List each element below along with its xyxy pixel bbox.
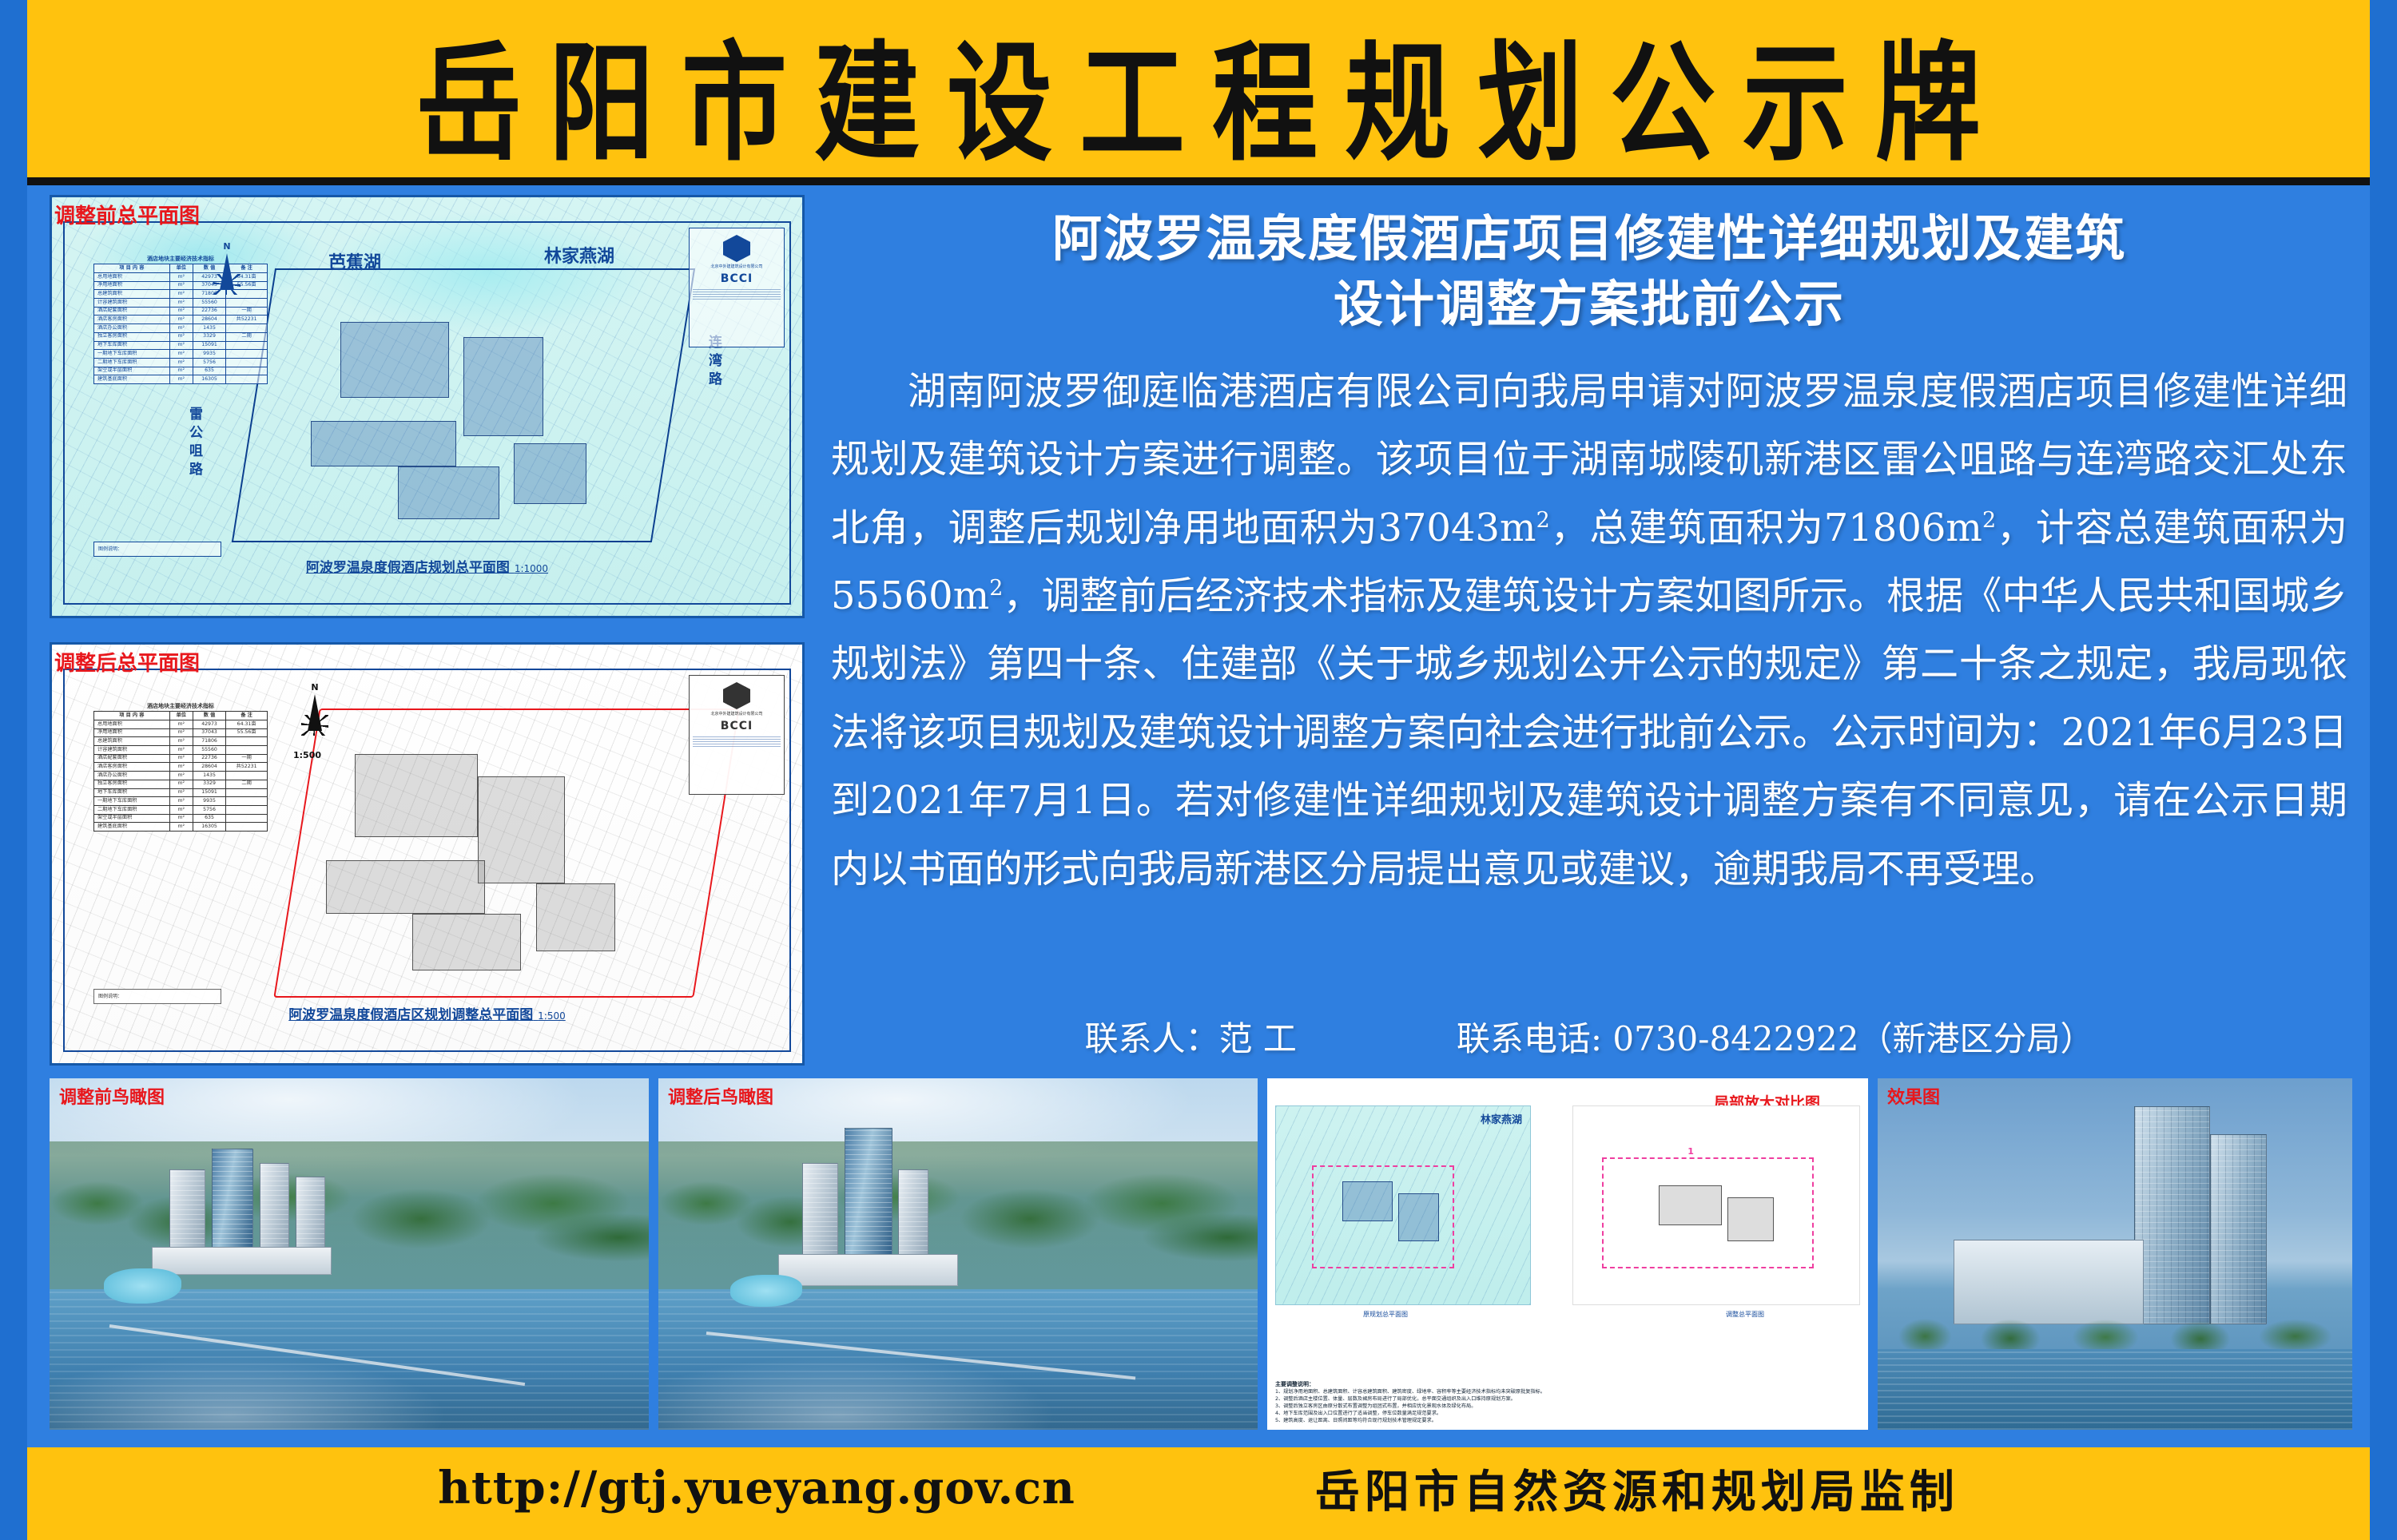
- plan-after-label: 调整后总平面图: [54, 647, 200, 677]
- table-cell: m²: [169, 720, 193, 729]
- comparison-highlight-box: [1312, 1165, 1454, 1268]
- comparison-left-caption: 原规划总平面图: [1363, 1310, 1408, 1319]
- render-tower: [2134, 1106, 2210, 1324]
- table-cell: 二期地下车库面积: [94, 805, 170, 814]
- road-label-leigongzui: 雷公咀路: [185, 407, 205, 480]
- firm-abbr: BCCI: [693, 720, 781, 732]
- table-cell: 净用地面积: [94, 281, 170, 290]
- table-cell: m²: [169, 814, 193, 823]
- table-cell: 净用地面积: [94, 728, 170, 737]
- right-blue-edge: [2370, 0, 2397, 1540]
- table-cell: 总建筑面积: [94, 737, 170, 746]
- plan-before-building: [311, 421, 455, 466]
- plan-after-firm-block: 北京中外建建筑设计有限公司 BCCI: [689, 675, 785, 795]
- th-item: 项 目 内 容: [94, 712, 170, 720]
- plan-before-label: 调整前总平面图: [54, 200, 200, 229]
- table-cell: [226, 299, 268, 308]
- table-cell: 22736: [193, 307, 225, 316]
- aerial-after-thumbnail[interactable]: 调整后鸟瞰图: [658, 1078, 1258, 1430]
- table-cell: m²: [169, 367, 193, 375]
- table-cell: m²: [169, 754, 193, 763]
- table-cell: 22736: [193, 754, 225, 763]
- table-cell: 地下车库面积: [94, 788, 170, 797]
- table-cell: [226, 746, 268, 755]
- table-cell: 16305: [193, 375, 225, 384]
- table-cell: m²: [169, 341, 193, 350]
- table-cell: 5756: [193, 358, 225, 367]
- compass-rose-icon: N: [296, 691, 333, 740]
- table-row: 酒店配套面积m²22736一期: [94, 754, 268, 763]
- table-cell: [226, 341, 268, 350]
- table-row: 地下车库面积m²15091: [94, 788, 268, 797]
- comparison-marker: 1: [1687, 1146, 1694, 1157]
- aerial-before-label: 调整前鸟瞰图: [59, 1083, 165, 1109]
- table-cell: m²: [169, 324, 193, 333]
- drawing-title-text: 阿波罗温泉度假酒店规划总平面图: [306, 560, 510, 576]
- th-value: 数 值: [193, 712, 225, 720]
- table-cell: 建筑基底面积: [94, 375, 170, 384]
- table-row: 二期地下车库面积m²5756: [94, 358, 268, 367]
- compass-north-label: N: [223, 241, 230, 252]
- table-cell: 71806: [193, 737, 225, 746]
- table-cell: [226, 788, 268, 797]
- table-cell: 55.56亩: [226, 728, 268, 737]
- plan-after-frame: 酒店地块主要经济技术指标 项 目 内 容 单位 数 值 备 注 总用地面积m²4…: [63, 669, 791, 1052]
- table-row: 净用地面积m²3704355.56亩: [94, 728, 268, 737]
- table-cell: [226, 375, 268, 384]
- bcci-logo-icon: [723, 682, 750, 709]
- plan-before-frame: 酒店地块主要经济技术指标 项 目 内 容 单位 数 值 备 注 总用地面积m²4…: [63, 221, 791, 605]
- table-cell: 总用地面积: [94, 273, 170, 282]
- table-cell: 酒店客房面积: [94, 316, 170, 324]
- table-cell: m²: [169, 763, 193, 772]
- table-cell: 酒店配套面积: [94, 307, 170, 316]
- notice-paragraph: 湖南阿波罗御庭临港酒店有限公司向我局申请对阿波罗温泉度假酒店项目修建性详细规划及…: [826, 358, 2352, 904]
- podium: [778, 1254, 958, 1286]
- notice-title-line1: 阿波罗温泉度假酒店项目修建性详细规划及建筑: [826, 206, 2352, 272]
- table-row: 二期地下车库面积m²5756: [94, 805, 268, 814]
- table-row: 酒店客房面积m²28604共52231: [94, 763, 268, 772]
- table-cell: 二期地下车库面积: [94, 358, 170, 367]
- comparison-right-caption: 调整总平面图: [1726, 1310, 1764, 1319]
- contact-phone: 联系电话: 0730-8422922（新港区分局）: [1457, 1012, 2094, 1061]
- table-cell: 一期地下车库面积: [94, 797, 170, 806]
- table-cell: m²: [169, 797, 193, 806]
- footer-organization: 岳阳市自然资源和规划局监制: [1315, 1456, 1959, 1521]
- table-cell: [226, 350, 268, 359]
- aerial-after-label: 调整后鸟瞰图: [668, 1083, 773, 1109]
- legend-title: 图例说明：: [98, 546, 122, 552]
- table-cell: 一期: [226, 307, 268, 316]
- table-cell: 55560: [193, 299, 225, 308]
- table-cell: 9935: [193, 350, 225, 359]
- render-tower: [2210, 1134, 2267, 1324]
- comparison-note-item: 5、建筑高度、退让距离、日照间距等均符合现行规划技术管理规定要求。: [1275, 1418, 1860, 1425]
- table-cell: m²: [169, 746, 193, 755]
- compass-star: [301, 715, 328, 736]
- table-cell: 635: [193, 367, 225, 375]
- th-unit: 单位: [169, 712, 193, 720]
- th-note: 备 注: [226, 712, 268, 720]
- plan-after-legend: 图例说明：: [93, 989, 221, 1004]
- table-cell: 二期: [226, 332, 268, 341]
- notice-title: 阿波罗温泉度假酒店项目修建性详细规划及建筑 设计调整方案批前公示: [826, 195, 2352, 337]
- table-cell: [226, 797, 268, 806]
- table-cell: 独立客房面积: [94, 780, 170, 788]
- table-cell: m²: [169, 788, 193, 797]
- firm-name: 北京中外建建筑设计有限公司: [693, 264, 781, 270]
- table-row: 架空或半层面积m²635: [94, 814, 268, 823]
- comparison-note-item: 3、调整后独立客房区由原分散式布置调整为组团式布置，并相应优化景观水体及绿化布局…: [1275, 1403, 1860, 1411]
- firm-detail-rows: [693, 288, 781, 300]
- table-cell: m²: [169, 299, 193, 308]
- table-cell: 28604: [193, 316, 225, 324]
- plan-after-building: [478, 776, 565, 883]
- footer-band: http://gtj.yueyang.gov.cn 岳阳市自然资源和规划局监制: [27, 1447, 2370, 1540]
- table-row: 酒店配套面积m²22736一期: [94, 307, 268, 316]
- firm-detail-rows: [693, 735, 781, 747]
- comparison-notes-title: 主要调整说明：: [1275, 1381, 1314, 1387]
- table-row: 总用地面积m²4297364.31亩: [94, 720, 268, 729]
- plan-after-building: [355, 754, 478, 838]
- table-cell: 15091: [193, 341, 225, 350]
- table-cell: 一期地下车库面积: [94, 350, 170, 359]
- plan-before-drawing[interactable]: 酒店地块主要经济技术指标 项 目 内 容 单位 数 值 备 注 总用地面积m²4…: [50, 195, 805, 618]
- lake-label-linjiayanhu: 林家燕湖: [544, 242, 614, 268]
- table-cell: [226, 805, 268, 814]
- render-thumbnail[interactable]: 效果图: [1878, 1078, 2352, 1430]
- plan-after-index-table: 酒店地块主要经济技术指标 项 目 内 容 单位 数 值 备 注 总用地面积m²4…: [93, 702, 268, 832]
- contact-row: 联系人：范 工 联系电话: 0730-8422922（新港区分局）: [826, 1012, 2352, 1061]
- contact-person: 联系人：范 工: [1085, 1012, 1297, 1061]
- table-cell: m²: [169, 728, 193, 737]
- plan-before-building: [463, 337, 543, 436]
- table-row: 独立客房面积m²3329二期: [94, 332, 268, 341]
- plan-after-building: [412, 914, 521, 970]
- tower: [169, 1169, 205, 1254]
- table-cell: 9935: [193, 797, 225, 806]
- table-cell: 42973: [193, 720, 225, 729]
- table-cell: [226, 814, 268, 823]
- table-cell: 3329: [193, 780, 225, 788]
- lake-label-bajiaohu: 芭蕉湖: [328, 248, 381, 274]
- table-cell: m²: [169, 307, 193, 316]
- table-cell: m²: [169, 805, 193, 814]
- tower: [260, 1163, 290, 1254]
- table-cell: 635: [193, 814, 225, 823]
- plan-before-firm-block: 北京中外建建筑设计有限公司 BCCI: [689, 228, 785, 347]
- table-cell: 15091: [193, 788, 225, 797]
- table-cell: 37043: [193, 728, 225, 737]
- firm-name: 北京中外建建筑设计有限公司: [693, 712, 781, 717]
- table-cell: 架空或半层面积: [94, 814, 170, 823]
- table-cell: [226, 772, 268, 780]
- compass-rose-icon: N: [209, 250, 245, 300]
- table-cell: [226, 823, 268, 832]
- notice-text-block: 阿波罗温泉度假酒店项目修建性详细规划及建筑 设计调整方案批前公示 湖南阿波罗御庭…: [826, 195, 2352, 1066]
- footer-website-url[interactable]: http://gtj.yueyang.gov.cn: [438, 1462, 1075, 1514]
- plan-after-building: [536, 883, 616, 952]
- table-cell: [226, 737, 268, 746]
- table-row: 架空或半层面积m²635: [94, 367, 268, 375]
- comparison-note-item: 1、规划净用地面积、总建筑面积、计容总建筑面积、建筑密度、绿地率、容积率等主要经…: [1275, 1389, 1860, 1396]
- plan-after-drawing-title: 阿波罗温泉度假酒店区规划调整总平面图 1:500: [65, 1003, 789, 1023]
- table-row: 一期地下车库面积m²9935: [94, 350, 268, 359]
- aerial-after-art: [658, 1078, 1258, 1430]
- table-cell: [226, 324, 268, 333]
- table-row: 总建筑面积m²71806: [94, 737, 268, 746]
- comparison-left-map: 林家燕湖: [1275, 1105, 1531, 1305]
- plan-before-building: [340, 322, 449, 398]
- th-item: 项 目 内 容: [94, 264, 170, 273]
- table-cell: 计容建筑面积: [94, 746, 170, 755]
- table-row: 一期地下车库面积m²9935: [94, 797, 268, 806]
- compass-star: [213, 274, 240, 295]
- table-cell: 酒店办公面积: [94, 324, 170, 333]
- table-cell: m²: [169, 316, 193, 324]
- table-cell: m²: [169, 273, 193, 282]
- table-cell: 架空或半层面积: [94, 367, 170, 375]
- table-cell: 共52231: [226, 316, 268, 324]
- comparison-note-item: 2、调整后酒店主楼位置、体量、层数及裙房布局进行了局部优化，总平面交通组织及出入…: [1275, 1396, 1860, 1403]
- table-cell: [226, 358, 268, 367]
- aerial-before-art: [50, 1078, 649, 1430]
- table-row: 独立客房面积m²3329二期: [94, 780, 268, 788]
- comparison-highlight-box: [1602, 1157, 1814, 1268]
- drawing-scale: 1:1000: [515, 563, 548, 574]
- table-cell: m²: [169, 737, 193, 746]
- bcci-logo-icon: [723, 235, 750, 262]
- firm-abbr: BCCI: [693, 272, 781, 285]
- table-cell: m²: [169, 290, 193, 299]
- plan-after-scale-note: 1:500: [293, 750, 321, 760]
- render-label: 效果图: [1887, 1083, 1940, 1109]
- tower: [802, 1163, 838, 1261]
- table-row: 酒店办公面积m²1435: [94, 324, 268, 333]
- plan-before-building: [398, 466, 499, 520]
- table-cell: [226, 367, 268, 375]
- th-unit: 单位: [169, 264, 193, 273]
- table-cell: 二期: [226, 780, 268, 788]
- podium: [152, 1247, 332, 1275]
- board-title: 岳阳市建设工程规划公示牌: [389, 0, 2008, 186]
- pool: [730, 1275, 802, 1307]
- pool: [104, 1268, 182, 1304]
- table-cell: m²: [169, 358, 193, 367]
- plan-before-building: [514, 443, 586, 504]
- table-cell: m²: [169, 332, 193, 341]
- plan-after-drawing[interactable]: 酒店地块主要经济技术指标 项 目 内 容 单位 数 值 备 注 总用地面积m²4…: [50, 642, 805, 1066]
- header-band: 岳阳市建设工程规划公示牌: [27, 0, 2370, 185]
- render-art: [1878, 1078, 2352, 1430]
- table-row: 地下车库面积m²15091: [94, 341, 268, 350]
- table-cell: m²: [169, 375, 193, 384]
- table-cell: 28604: [193, 763, 225, 772]
- table-cell: m²: [169, 281, 193, 290]
- table-cell: 地下车库面积: [94, 341, 170, 350]
- table-cell: 5756: [193, 805, 225, 814]
- lake-label-linjiayanhu: 林家燕湖: [1481, 1111, 1522, 1126]
- footer-content: http://gtj.yueyang.gov.cn 岳阳市自然资源和规划局监制: [27, 1447, 2370, 1540]
- plan-before-legend: 图例说明：: [93, 542, 221, 557]
- tower: [296, 1177, 326, 1254]
- table-row: 计容建筑面积m²55560: [94, 299, 268, 308]
- left-blue-edge: [0, 0, 27, 1540]
- table-header-row: 项 目 内 容 单位 数 值 备 注: [94, 712, 268, 720]
- table-cell: m²: [169, 780, 193, 788]
- table-cell: 独立客房面积: [94, 332, 170, 341]
- header-rule-bottom: [27, 177, 2370, 185]
- drawing-title-text: 阿波罗温泉度假酒店区规划调整总平面图: [288, 1007, 533, 1023]
- tower: [898, 1169, 928, 1260]
- legend-title: 图例说明：: [98, 994, 122, 999]
- table-cell: 总用地面积: [94, 720, 170, 729]
- plan-after-table-caption: 酒店地块主要经济技术指标: [93, 702, 268, 711]
- table-cell: 1435: [193, 772, 225, 780]
- notice-title-line2: 设计调整方案批前公示: [826, 272, 2352, 337]
- table-row: 酒店办公面积m²1435: [94, 772, 268, 780]
- drawing-scale: 1:500: [538, 1010, 566, 1022]
- comparison-panel: 局部放大对比图 林家燕湖 1 原规划总平面图 调整总平面图 主要调整说明：: [1267, 1078, 1868, 1430]
- table-cell: 共52231: [226, 763, 268, 772]
- comparison-right-map: 1: [1572, 1105, 1860, 1305]
- comparison-thumbnail[interactable]: 局部放大对比图 林家燕湖 1 原规划总平面图 调整总平面图 主要调整说明：: [1267, 1078, 1868, 1430]
- table-cell: 酒店配套面积: [94, 754, 170, 763]
- comparison-note-item: 4、地下车库范围及出入口位置进行了适当调整，停车位数量满足规范要求。: [1275, 1411, 1860, 1418]
- tower: [212, 1149, 254, 1254]
- table-cell: 55560: [193, 746, 225, 755]
- plan-after-building: [326, 860, 486, 914]
- table-cell: 1435: [193, 324, 225, 333]
- table-cell: m²: [169, 350, 193, 359]
- table-cell: 计容建筑面积: [94, 299, 170, 308]
- table-cell: 16305: [193, 823, 225, 832]
- table-row: 建筑基底面积m²16305: [94, 375, 268, 384]
- plan-before-drawing-title: 阿波罗温泉度假酒店规划总平面图 1:1000: [65, 556, 789, 576]
- table-cell: 总建筑面积: [94, 290, 170, 299]
- planning-notice-board: 岳阳市建设工程规划公示牌 调整前总平面图 酒店地块主要经济技术指标 项 目 内 …: [0, 0, 2397, 1540]
- body-panel: 调整前总平面图 酒店地块主要经济技术指标 项 目 内 容 单位 数 值 备 注: [27, 185, 2370, 1447]
- render-water: [1878, 1349, 2352, 1430]
- table-cell: 一期: [226, 754, 268, 763]
- table-row: 建筑基底面积m²16305: [94, 823, 268, 832]
- table-cell: 酒店办公面积: [94, 772, 170, 780]
- tower: [845, 1128, 892, 1261]
- table-cell: 64.31亩: [226, 720, 268, 729]
- table-cell: m²: [169, 772, 193, 780]
- render-trees: [1878, 1307, 2352, 1349]
- compass-north-label: N: [311, 682, 318, 693]
- table-cell: 3329: [193, 332, 225, 341]
- table-cell: m²: [169, 823, 193, 832]
- table-row: 计容建筑面积m²55560: [94, 746, 268, 755]
- table-row: 酒店客房面积m²28604共52231: [94, 316, 268, 324]
- forest-band: [658, 1141, 1258, 1296]
- aerial-before-thumbnail[interactable]: 调整前鸟瞰图: [50, 1078, 649, 1430]
- table-cell: 建筑基底面积: [94, 823, 170, 832]
- table-cell: 酒店客房面积: [94, 763, 170, 772]
- comparison-notes: 主要调整说明： 1、规划净用地面积、总建筑面积、计容总建筑面积、建筑密度、绿地率…: [1275, 1380, 1860, 1425]
